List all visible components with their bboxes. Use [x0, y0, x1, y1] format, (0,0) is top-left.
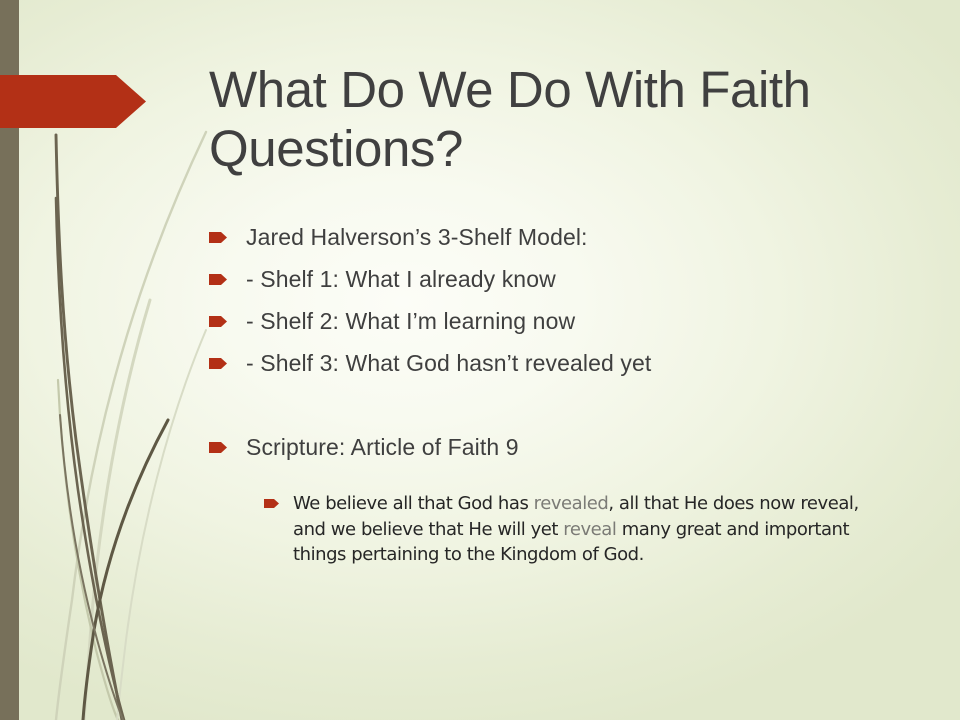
red-arrow-banner [0, 75, 146, 128]
slide-canvas: What Do We Do With Faith Questions? Jare… [0, 0, 960, 720]
list-item-label: - Shelf 1: What I already know [246, 264, 556, 294]
list-item: - Shelf 1: What I already know [209, 264, 909, 306]
list-item-label: - Shelf 2: What I’m learning now [246, 306, 575, 336]
list-item-label: Scripture: Article of Faith 9 [246, 432, 519, 462]
red-pennant-bullet-icon [264, 499, 279, 508]
red-pennant-bullet-icon [209, 358, 227, 369]
list-item: Jared Halverson’s 3-Shelf Model: [209, 222, 909, 264]
red-pennant-bullet-icon [209, 274, 227, 285]
red-pennant-bullet-icon [209, 442, 227, 453]
list-item-label: - Shelf 3: What God hasn’t revealed yet [246, 348, 651, 378]
scripture-quote-item: We believe all that God has revealed, al… [264, 491, 882, 568]
scripture-quote-text: We believe all that God has revealed, al… [293, 491, 882, 568]
slide-body: Jared Halverson’s 3-Shelf Model: - Shelf… [209, 222, 909, 568]
page-title: What Do We Do With Faith Questions? [209, 60, 909, 178]
list-item: - Shelf 3: What God hasn’t revealed yet [209, 348, 909, 390]
red-pennant-bullet-icon [209, 232, 227, 243]
list-item: - Shelf 2: What I’m learning now [209, 306, 909, 348]
red-pennant-bullet-icon [209, 316, 227, 327]
list-item-label: Jared Halverson’s 3-Shelf Model: [246, 222, 588, 252]
list-item: Scripture: Article of Faith 9 [209, 432, 909, 474]
